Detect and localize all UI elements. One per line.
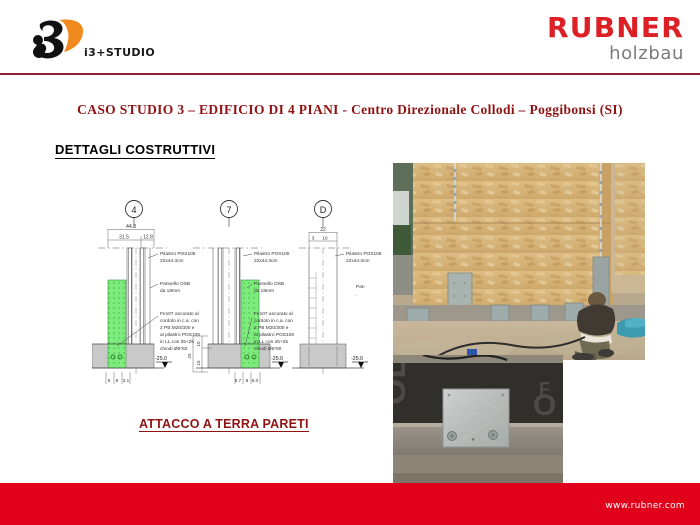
photo-construction-site bbox=[393, 163, 645, 360]
svg-text:4: 4 bbox=[131, 205, 136, 215]
annotation-a6-line3: 2 PB M20/300 e bbox=[254, 325, 289, 331]
svg-text:●: ● bbox=[471, 437, 475, 443]
drawing-caption: ATTACCO A TERRA PARETI bbox=[139, 417, 309, 432]
annotation-a7-line2: 22x44.3cm bbox=[346, 258, 369, 264]
annotation-group-7: Pilastro POS106 22x44.3cm Pannello OSB d… bbox=[254, 251, 294, 352]
svg-text:16: 16 bbox=[322, 236, 328, 242]
annotation-a1-line2: 22x44.3cm bbox=[160, 258, 183, 264]
grid-bubble-7: 7 bbox=[221, 201, 238, 228]
svg-text:3: 3 bbox=[312, 236, 315, 241]
annotation-a6-line5: in LL con 25+25 bbox=[254, 339, 288, 345]
svg-text:F: F bbox=[539, 379, 550, 399]
annotation-a6-line1: Fe107 ancorato al bbox=[254, 311, 293, 317]
i3-studio-mark-icon bbox=[26, 18, 88, 62]
photo-site-graphic bbox=[393, 163, 645, 360]
svg-text:12.8: 12.8 bbox=[143, 235, 153, 241]
svg-text:8: 8 bbox=[246, 378, 249, 383]
i3-studio-logo: i3+STUDIO bbox=[26, 18, 156, 64]
level-marker-4: -25.0 bbox=[155, 356, 172, 368]
annotation-a6-line6: chiodi Ø6*60 bbox=[254, 346, 282, 352]
svg-text:D: D bbox=[320, 205, 327, 215]
drawing-svg: 4 7 D 44.3 31.5 12.8 bbox=[92, 196, 392, 414]
annotation-a4-line1: Pilastro POS106 bbox=[254, 251, 290, 257]
svg-text:10: 10 bbox=[196, 341, 201, 347]
level-marker-d: -25.0 bbox=[351, 356, 368, 368]
annotation-a3-line5: in LL con 25+25 bbox=[160, 339, 194, 345]
footer-website-link[interactable]: www.rubner.com bbox=[605, 501, 685, 511]
svg-text:15: 15 bbox=[196, 360, 201, 366]
annotation-a3-line3: 2 PB M20/300 e bbox=[160, 325, 195, 331]
annotation-group-d: Pilastro POS105 22x44.3cm Pan . bbox=[346, 251, 382, 298]
svg-text:3.1: 3.1 bbox=[123, 378, 130, 383]
footer-bar bbox=[0, 483, 700, 525]
rubner-logo: RUBNER holzbau bbox=[547, 14, 684, 63]
svg-text:6.0: 6.0 bbox=[252, 378, 259, 383]
annotation-a6-line2: cordolo in c.a. con bbox=[254, 318, 293, 324]
annotation-a3-line1: Fe107 ancorato al bbox=[160, 311, 199, 317]
steel-anchor-plate: ● bbox=[443, 389, 509, 447]
svg-text:6: 6 bbox=[108, 378, 111, 383]
grid-bubble-d: D bbox=[315, 201, 332, 228]
section-d: 22 3 16 -25.0 bbox=[292, 227, 368, 374]
annotation-a5-line1: Pannello OSB bbox=[254, 281, 284, 287]
annotation-a3-line2: cordolo in c.a. con bbox=[160, 318, 199, 324]
svg-text:9.7: 9.7 bbox=[235, 378, 242, 383]
svg-text:-25.0: -25.0 bbox=[155, 356, 167, 362]
photo-anchor-plate: OLP O F ● bbox=[393, 355, 563, 483]
annotation-a8-line2: . bbox=[356, 293, 357, 298]
svg-text:-25.0: -25.0 bbox=[351, 356, 363, 362]
svg-text:7: 7 bbox=[226, 205, 231, 215]
page-title: CASO STUDIO 3 – EDIFICIO DI 4 PIANI - Ce… bbox=[0, 102, 700, 118]
svg-text:22: 22 bbox=[320, 227, 326, 233]
svg-text:8: 8 bbox=[116, 378, 119, 383]
svg-text:44.3: 44.3 bbox=[126, 224, 136, 230]
photo-plate-graphic: OLP O F ● bbox=[393, 355, 563, 483]
i3-studio-wordmark: i3+STUDIO bbox=[84, 46, 155, 59]
header-divider bbox=[0, 73, 700, 75]
annotation-a2-line1: Pannello OSB bbox=[160, 281, 190, 287]
svg-text:31.5: 31.5 bbox=[119, 235, 129, 241]
annotation-a6-line4: al pilastro POS106 bbox=[254, 332, 294, 338]
annotation-a1-line1: Pilastro POS105 bbox=[160, 251, 196, 257]
annotation-a3-line6: chiodi Ø6*60 bbox=[160, 346, 188, 352]
construction-detail-drawing: 4 7 D 44.3 31.5 12.8 bbox=[92, 196, 392, 414]
annotation-a3-line4: al pilastro POS105 bbox=[160, 332, 200, 338]
annotation-a7-line1: Pilastro POS105 bbox=[346, 251, 382, 257]
annotation-a2-line2: da 18mm bbox=[160, 288, 180, 294]
annotation-a5-line2: da 18mm bbox=[254, 288, 274, 294]
annotation-a4-line2: 22x44.3cm bbox=[254, 258, 277, 264]
section-heading: DETTAGLI COSTRUTTIVI bbox=[55, 142, 215, 159]
svg-text:-25.0: -25.0 bbox=[271, 356, 283, 362]
section-4: 44.3 31.5 12.8 -25.0 bbox=[92, 224, 172, 384]
holzbau-wordmark: holzbau bbox=[547, 45, 684, 63]
slide-canvas: i3+STUDIO RUBNER holzbau CASO STUDIO 3 –… bbox=[0, 0, 700, 525]
svg-text:25: 25 bbox=[187, 353, 192, 359]
rubner-wordmark: RUBNER bbox=[547, 14, 684, 42]
level-marker-7: -25.0 bbox=[271, 356, 288, 368]
annotation-group-4: Pilastro POS105 22x44.3cm Pannello OSB d… bbox=[160, 251, 200, 352]
annotation-a8-line1: Pan bbox=[356, 284, 365, 290]
